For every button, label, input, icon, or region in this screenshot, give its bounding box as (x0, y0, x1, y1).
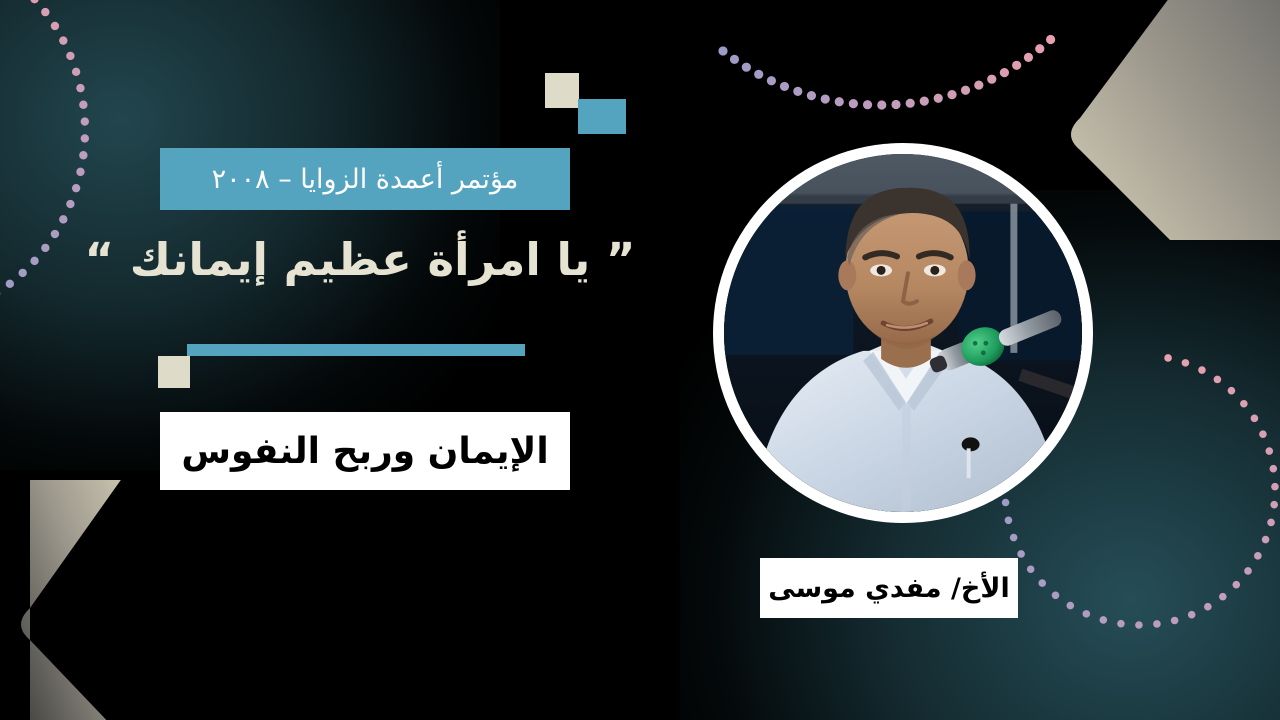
speaker-name-text: الأخ/ مفدي موسى (768, 573, 1009, 604)
decor-square-cream-middle (158, 356, 190, 388)
main-title: ” يا امرأة عظيم إيمانك “ (60, 232, 660, 288)
conference-title-bar: مؤتمر أعمدة الزوايا – ٢٠٠٨ (160, 148, 570, 210)
chevron-shape-bottom-left (0, 480, 230, 720)
chevron-shape-top-right (1040, 0, 1280, 240)
dotted-arc-top (600, 0, 1160, 114)
conference-title-text: مؤتمر أعمدة الزوايا – ٢٠٠٨ (212, 166, 519, 193)
decor-bar-teal-middle (187, 344, 525, 356)
slide-canvas: مؤتمر أعمدة الزوايا – ٢٠٠٨ ” يا امرأة عظ… (0, 0, 1280, 720)
topic-label-text: الإيمان وربح النفوس (181, 431, 548, 472)
decor-square-cream-top (545, 73, 579, 108)
topic-label-box: الإيمان وربح النفوس (160, 412, 570, 490)
decor-square-teal-top (578, 99, 626, 134)
speaker-name-box: الأخ/ مفدي موسى (760, 558, 1018, 618)
speaker-portrait (713, 143, 1093, 523)
speaker-photo (724, 154, 1082, 512)
